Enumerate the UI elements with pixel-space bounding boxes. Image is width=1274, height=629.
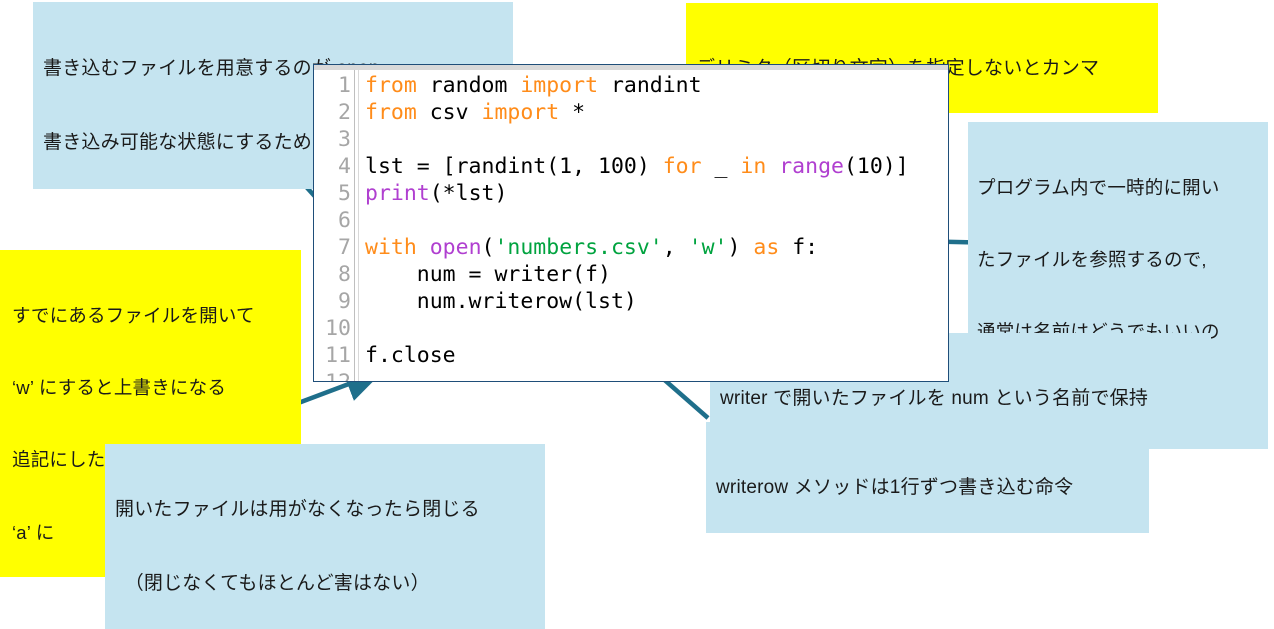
line-number-gutter: 123456789101112 [314, 70, 354, 381]
line-number: 10 [314, 315, 351, 342]
editor-body[interactable]: 123456789101112 from random import randi… [314, 70, 948, 381]
callout-writer-line1: writer で開いたファイルを num という名前で保持 [720, 387, 1201, 412]
code-token: csv [430, 100, 482, 125]
code-token: (10)] [844, 154, 909, 179]
line-number: 12 [314, 369, 351, 382]
code-token: lst = [ [365, 154, 456, 179]
code-token: range [779, 154, 844, 179]
code-token: randint [611, 73, 702, 98]
code-line [365, 315, 948, 342]
line-number: 4 [314, 153, 351, 180]
code-token: (1, 100) [546, 154, 663, 179]
code-token: import [482, 100, 573, 125]
code-line: lst = [randint(1, 100) for _ in range(10… [365, 153, 948, 180]
line-number: 8 [314, 261, 351, 288]
line-number: 3 [314, 126, 351, 153]
code-token: (*lst) [430, 181, 508, 206]
code-line [365, 369, 948, 382]
code-line [365, 126, 948, 153]
code-token: _ [715, 154, 741, 179]
code-token: * [572, 100, 585, 125]
code-token: ( [482, 235, 495, 260]
line-number: 9 [314, 288, 351, 315]
code-token: randint [456, 154, 547, 179]
code-token: f: [792, 235, 818, 260]
code-line: from csv import * [365, 99, 948, 126]
code-token: num = writer(f) [365, 262, 611, 287]
code-token: ) [727, 235, 753, 260]
code-line: f.close [365, 342, 948, 369]
callout-close-line2: （閉じなくてもほとんど害はない） [115, 572, 535, 597]
callout-writerow: writerow メソッドは1行ずつ書き込む命令 [706, 422, 1149, 533]
callout-filehandle-line2: たファイルを参照するので, [977, 248, 1259, 272]
code-line [365, 207, 948, 234]
line-number: 1 [314, 72, 351, 99]
code-line: num = writer(f) [365, 261, 948, 288]
code-text-area[interactable]: from random import randintfrom csv impor… [359, 70, 948, 381]
code-line: print(*lst) [365, 180, 948, 207]
code-line: num.writerow(lst) [365, 288, 948, 315]
code-token: 'w' [689, 235, 728, 260]
code-line: with open('numbers.csv', 'w') as f: [365, 234, 948, 261]
callout-filehandle-line1: プログラム内で一時的に開い [977, 176, 1259, 200]
code-line: from random import randint [365, 72, 948, 99]
code-token: for [663, 154, 715, 179]
line-number: 6 [314, 207, 351, 234]
code-token: print [365, 181, 430, 206]
line-number: 2 [314, 99, 351, 126]
callout-overwrite-line1: すでにあるファイルを開いて [12, 304, 291, 328]
code-token: in [740, 154, 779, 179]
callout-writerow-line1: writerow メソッドは1行ずつ書き込む命令 [716, 476, 1139, 501]
line-number: 7 [314, 234, 351, 261]
code-token: open [430, 235, 482, 260]
callout-close-file: 開いたファイルは用がなくなったら閉じる （閉じなくてもほとんど害はない） [105, 444, 545, 629]
code-token: from [365, 100, 430, 125]
line-number: 5 [314, 180, 351, 207]
code-token: num.writerow(lst) [365, 289, 637, 314]
line-number: 11 [314, 342, 351, 369]
code-token: import [520, 73, 611, 98]
code-token: with [365, 235, 430, 260]
code-token: 'numbers.csv' [494, 235, 662, 260]
code-token: as [753, 235, 792, 260]
code-token: f.close [365, 343, 456, 368]
code-token: from [365, 73, 430, 98]
code-editor-panel[interactable]: 123456789101112 from random import randi… [313, 64, 949, 382]
callout-overwrite-line2: ‘w’ にすると上書きになる [12, 376, 291, 400]
code-token: random [430, 73, 521, 98]
callout-close-line1: 開いたファイルは用がなくなったら閉じる [115, 498, 535, 523]
code-token: , [663, 235, 689, 260]
